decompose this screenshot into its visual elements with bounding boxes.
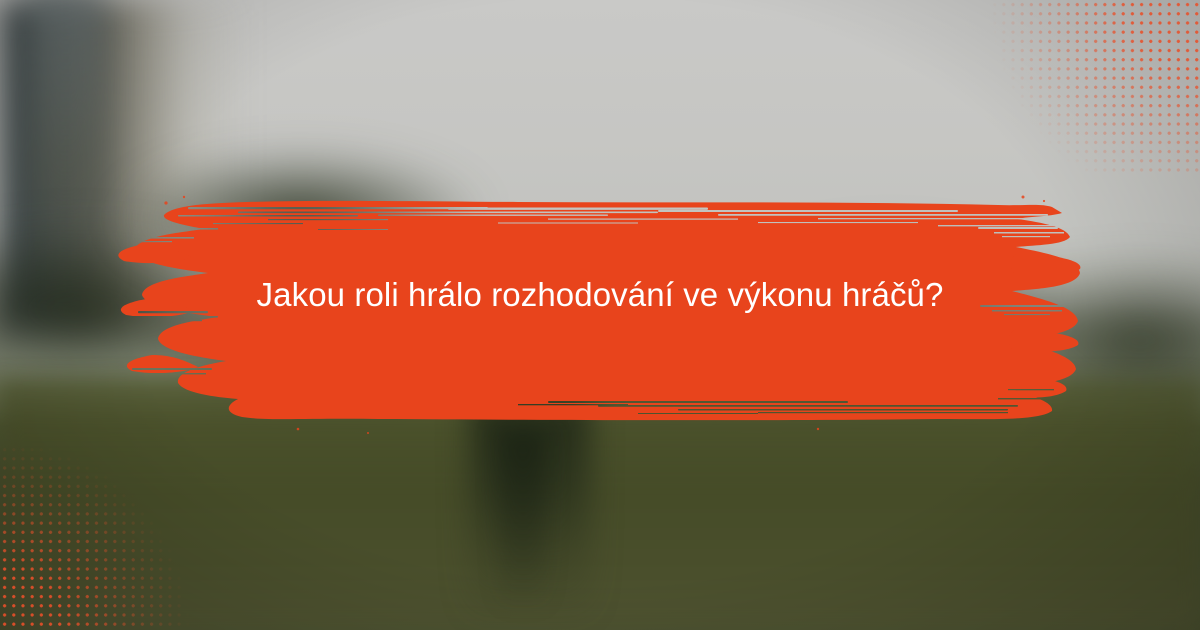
page-title: Jakou roli hrálo rozhodování ve výkonu h… bbox=[0, 268, 1200, 322]
social-card: Jakou roli hrálo rozhodování ve výkonu h… bbox=[0, 0, 1200, 630]
